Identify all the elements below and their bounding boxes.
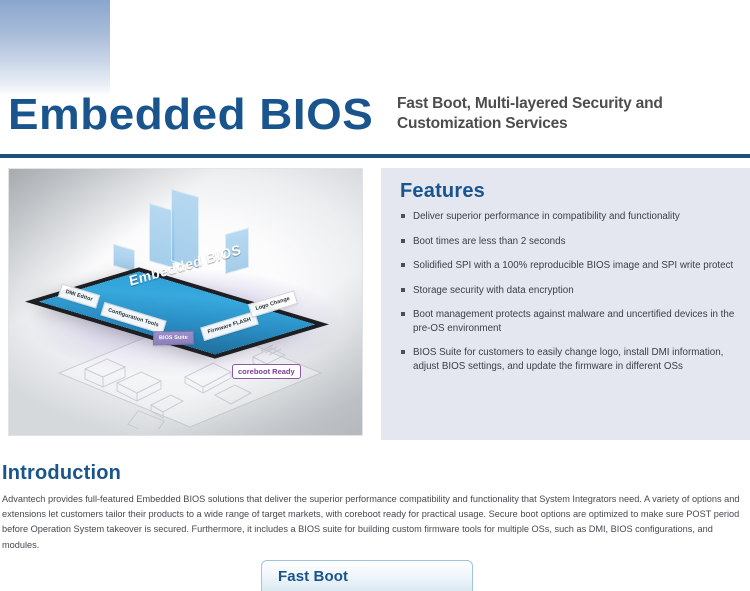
coreboot-ready-badge: coreboot Ready [232,364,301,379]
feature-item: BIOS Suite for customers to easily chang… [400,346,736,373]
feature-item: Boot management protects against malware… [400,308,736,335]
introduction-body: Advantech provides full-featured Embedde… [2,492,749,553]
product-page: Embedded BIOS Fast Boot, Multi-layered S… [0,0,750,591]
feature-item: Storage security with data encryption [400,284,736,298]
features-list: Deliver superior performance in compatib… [400,210,736,384]
features-heading: Features [400,180,485,203]
section-tab-fast-boot[interactable]: Fast Boot [261,560,473,591]
header-gradient-block [0,0,110,96]
page-subtitle: Fast Boot, Multi-layered Security and Cu… [397,94,747,134]
features-panel: Features Deliver superior performance in… [381,168,750,440]
callout-tag-bios-suite: BIOS Suite [153,331,194,346]
callout-tag-label: BIOS Suite [159,335,188,342]
page-title: Embedded BIOS [8,90,373,140]
page-header: Embedded BIOS Fast Boot, Multi-layered S… [0,90,750,158]
feature-item: Solidified SPI with a 100% reproducible … [400,259,736,273]
feature-item: Deliver superior performance in compatib… [400,210,736,224]
section-tab-label: Fast Boot [278,568,348,585]
product-illustration: Embedded BIOS DMI Editor Configuration T… [8,168,363,436]
introduction-heading: Introduction [2,462,121,485]
header-divider-rule [0,154,750,158]
feature-item: Boot times are less than 2 seconds [400,235,736,249]
